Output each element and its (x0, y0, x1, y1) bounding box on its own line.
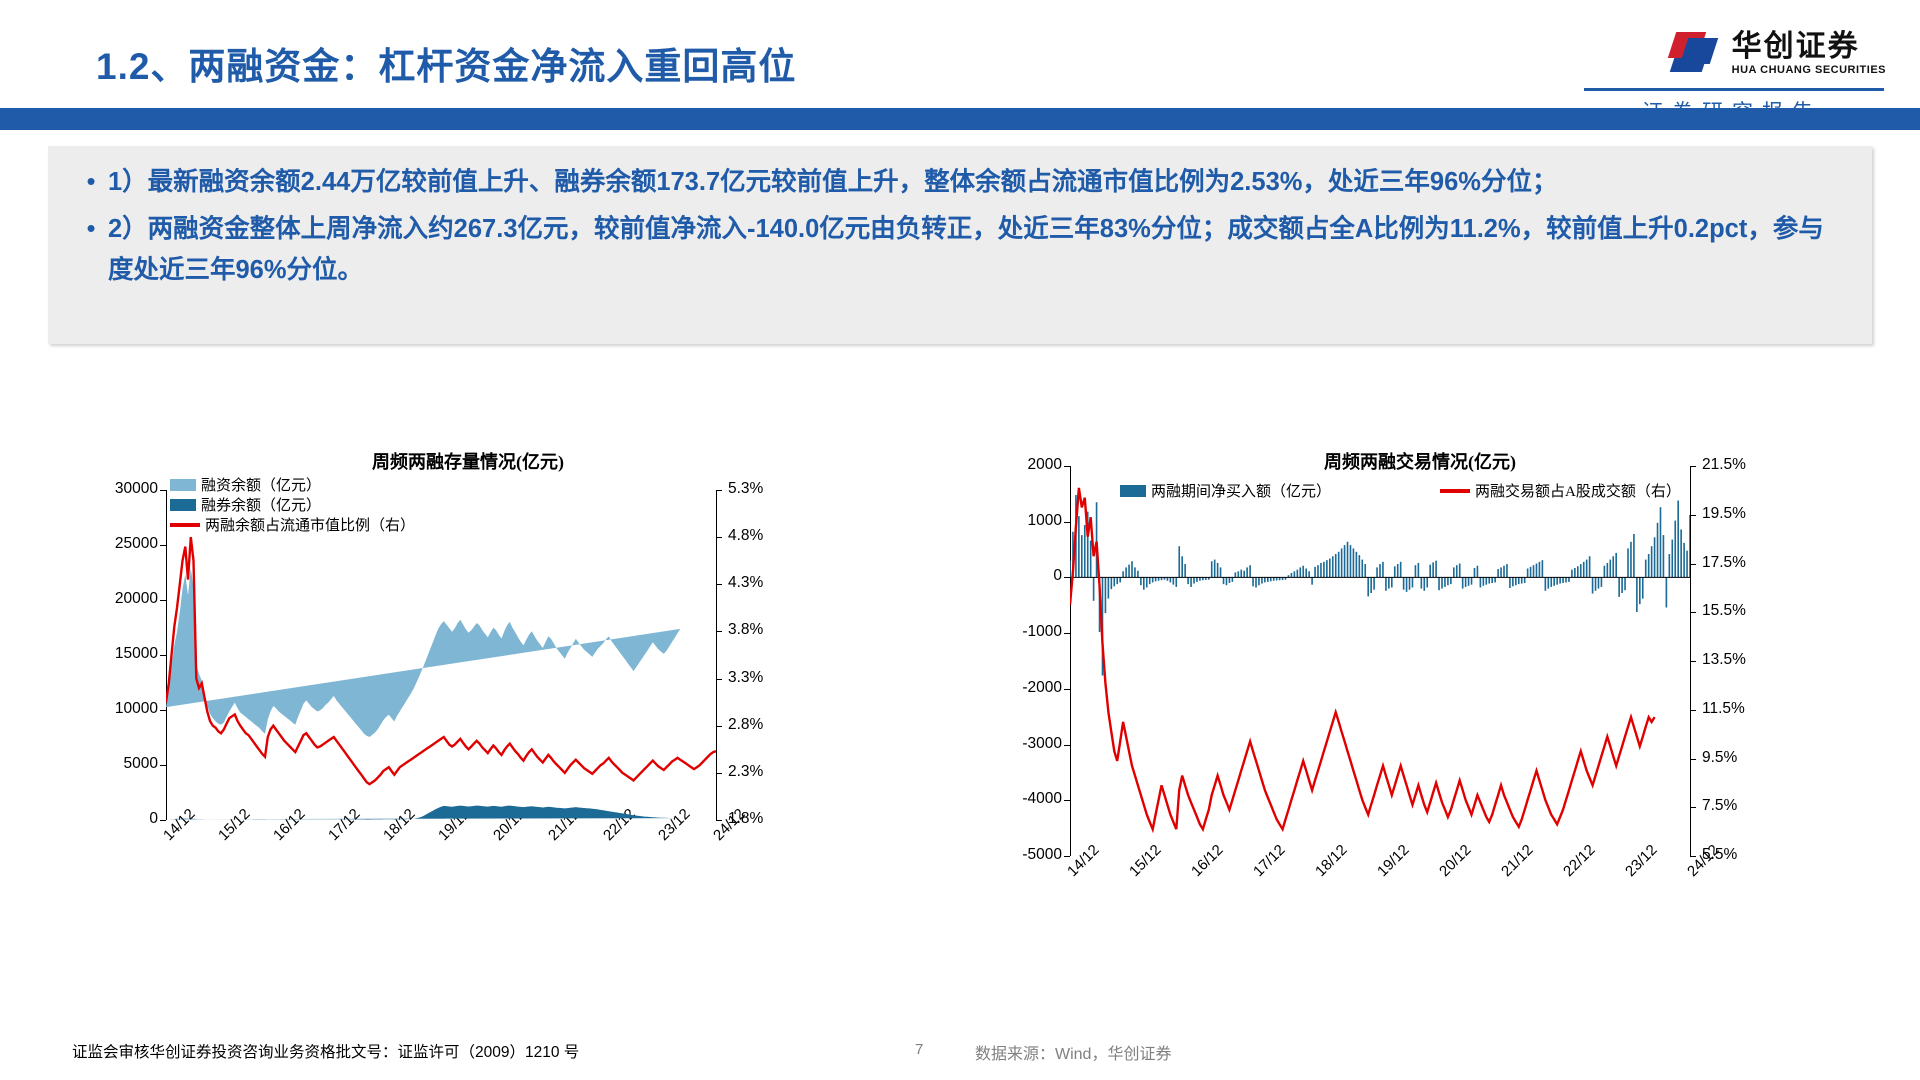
y-axis-label-left: 25000 (74, 535, 158, 553)
plot-area (166, 490, 716, 820)
y-tick-left (1064, 856, 1070, 857)
y-axis-label-right: 17.5% (1702, 554, 1746, 572)
summary-callout: • 1）最新融资余额2.44万亿较前值上升、融券余额173.7亿元较前值上升，整… (48, 146, 1872, 344)
footer-disclaimer: 证监会审核华创证券投资咨询业务资格批文号：证监许可（2009）1210 号 (72, 1040, 579, 1062)
page-number: 7 (915, 1041, 923, 1058)
y-axis-label-right: 4.8% (728, 527, 763, 545)
y-tick-right (1690, 564, 1696, 565)
bullet-marker-icon: • (74, 162, 108, 200)
y-axis-label-right: 5.3% (728, 480, 763, 498)
y-tick-right (1690, 466, 1696, 467)
y-axis-label-right: 19.5% (1702, 505, 1746, 523)
y-axis-label-left: 0 (74, 810, 158, 828)
y-axis-label-left: 20000 (74, 590, 158, 608)
y-tick-right (716, 537, 722, 538)
y-tick-right (1690, 759, 1696, 760)
logo-mark-icon (1670, 30, 1722, 78)
y-axis-label-left: 30000 (74, 480, 158, 498)
y-tick-right (1690, 807, 1696, 808)
y-axis-label-left: 0 (978, 567, 1062, 585)
y-axis-label-left: -5000 (978, 846, 1062, 864)
y-axis-label-right: 2.3% (728, 763, 763, 781)
y-axis-label-right: 3.3% (728, 669, 763, 687)
logo-divider (1584, 88, 1884, 91)
y-tick-right (1690, 515, 1696, 516)
chart-weekly-margin-balance: 周频两融存量情况(亿元) 融资余额（亿元）融券余额（亿元）两融余额占流通市值比例… (48, 448, 888, 1028)
y-axis-label-left: -4000 (978, 790, 1062, 808)
legend-swatch-box (170, 479, 196, 491)
chart-title: 周频两融存量情况(亿元) (48, 448, 888, 474)
list-item: • 2）两融资金整体上周净流入约267.3亿元，较前值净流入-140.0亿元由负… (74, 209, 1846, 291)
y-axis-label-left: 2000 (978, 456, 1062, 474)
y-axis-label-right: 13.5% (1702, 651, 1746, 669)
y-tick-left (160, 820, 166, 821)
report-type-label: 证券研究报告 (1582, 96, 1882, 126)
y-tick-right (1690, 661, 1696, 662)
footer-data-source: 数据来源：Wind，华创证券 (975, 1040, 1171, 1064)
y-axis-label-left: -2000 (978, 679, 1062, 697)
plot-area (1070, 466, 1690, 856)
y-axis-label-right: 3.8% (728, 621, 763, 639)
y-axis-label-right: 2.8% (728, 716, 763, 734)
y-axis-label-left: -3000 (978, 735, 1062, 753)
y-axis-label-left: -1000 (978, 623, 1062, 641)
y-axis-label-right: 11.5% (1702, 700, 1745, 718)
y-axis-label-left: 1000 (978, 512, 1062, 530)
y-axis-label-right: 7.5% (1702, 797, 1737, 815)
slide-header: 1.2、两融资金：杠杆资金净流入重回高位 华创证券 HUA CHUANG SEC… (0, 0, 1920, 135)
y-tick-right (716, 773, 722, 774)
bullet-text: 2）两融资金整体上周净流入约267.3亿元，较前值净流入-140.0亿元由负转正… (108, 209, 1846, 291)
y-axis-label-left: 5000 (74, 755, 158, 773)
logo-company-name-en: HUA CHUANG SECURITIES (1732, 65, 1886, 76)
y-tick-right (716, 679, 722, 680)
y-tick-right (1690, 710, 1696, 711)
y-tick-right (716, 726, 722, 727)
chart-weekly-margin-trading: 周频两融交易情况(亿元) 两融期间净买入额（亿元）两融交易额占A股成交额（右） … (970, 448, 1870, 1028)
y-axis-label-left: 10000 (74, 700, 158, 718)
page-title: 1.2、两融资金：杠杆资金净流入重回高位 (96, 36, 796, 90)
y-axis-label-right: 9.5% (1702, 749, 1737, 767)
bullet-text: 1）最新融资余额2.44万亿较前值上升、融券余额173.7亿元较前值上升，整体余… (108, 162, 1557, 203)
y-axis-label-right: 15.5% (1702, 602, 1746, 620)
y-tick-right (716, 584, 722, 585)
bullet-list: • 1）最新融资余额2.44万亿较前值上升、融券余额173.7亿元较前值上升，整… (48, 146, 1872, 291)
bullet-marker-icon: • (74, 209, 108, 247)
y-axis-label-right: 21.5% (1702, 456, 1746, 474)
brand-logo: 华创证券 HUA CHUANG SECURITIES 证券研究报告 (1564, 26, 1894, 126)
y-axis-label-right: 4.3% (728, 574, 763, 592)
y-tick-right (1690, 612, 1696, 613)
y-tick-right (716, 490, 722, 491)
y-axis-right-line (716, 490, 717, 820)
list-item: • 1）最新融资余额2.44万亿较前值上升、融券余额173.7亿元较前值上升，整… (74, 162, 1846, 203)
y-axis-label-left: 15000 (74, 645, 158, 663)
logo-company-name-cn: 华创证券 (1732, 32, 1886, 62)
y-tick-right (716, 631, 722, 632)
